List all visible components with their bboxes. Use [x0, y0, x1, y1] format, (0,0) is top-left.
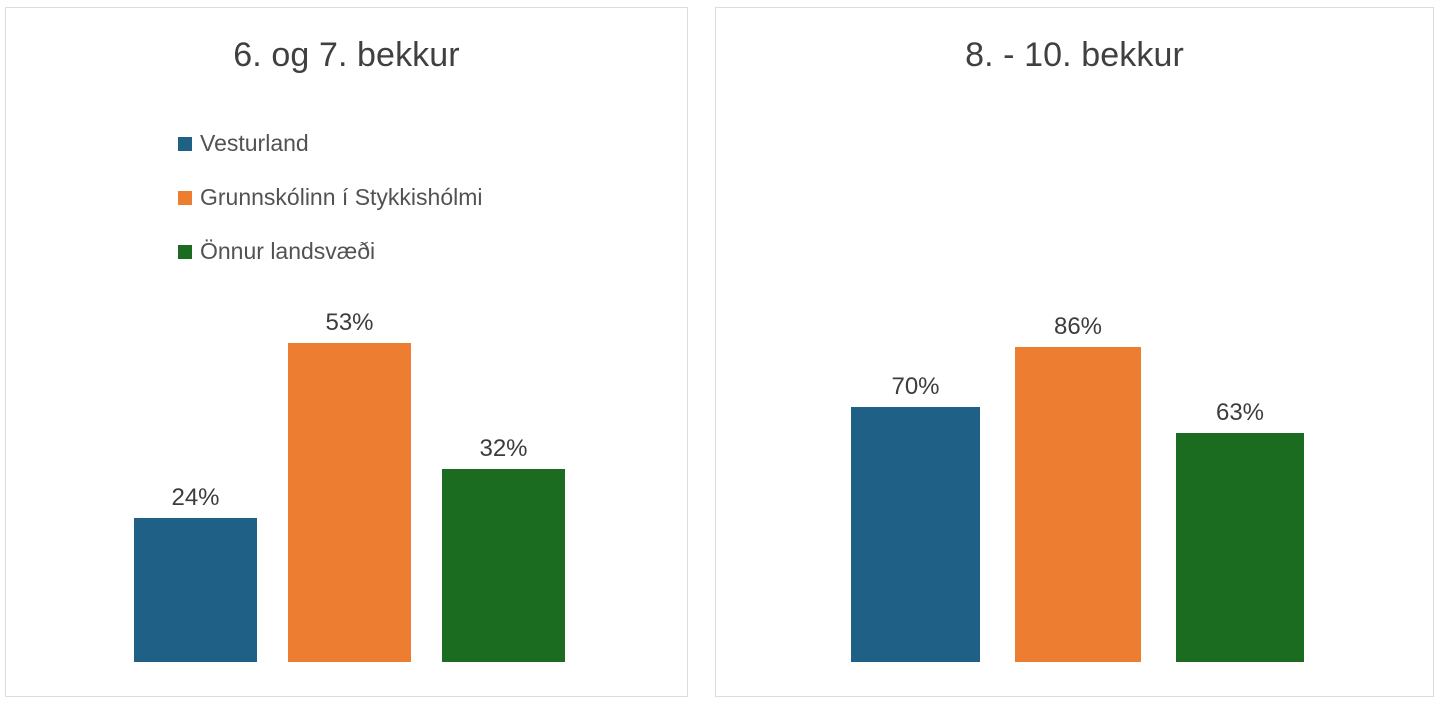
- bar-value-label: 24%: [134, 486, 257, 510]
- bar-value-label: 63%: [1176, 401, 1304, 425]
- bar-onnur-landsvaedi: [442, 469, 565, 662]
- chart-panel-grades-6-7: 6. og 7. bekkur Vesturland Grunnskólinn …: [5, 7, 688, 697]
- bar-value-label: 53%: [288, 311, 411, 335]
- chart-panel-grades-8-10: 8. - 10. bekkur Vesturland Grunnskólinn …: [715, 7, 1434, 697]
- chart-canvas: 6. og 7. bekkur Vesturland Grunnskólinn …: [0, 0, 1445, 708]
- bar-value-label: 70%: [851, 375, 980, 399]
- bar-onnur-landsvaedi: [1176, 433, 1304, 662]
- bar-value-label: 86%: [1015, 315, 1141, 339]
- bar-vesturland: [134, 518, 257, 662]
- plot-area: 24% 53% 32%: [6, 8, 687, 696]
- bar-grunnskolinn-i-stykkisholmi: [288, 343, 411, 662]
- bar-value-label: 32%: [442, 437, 565, 461]
- plot-area: 70% 86% 63%: [716, 8, 1433, 696]
- bar-vesturland: [851, 407, 980, 662]
- bar-grunnskolinn-i-stykkisholmi: [1015, 347, 1141, 662]
